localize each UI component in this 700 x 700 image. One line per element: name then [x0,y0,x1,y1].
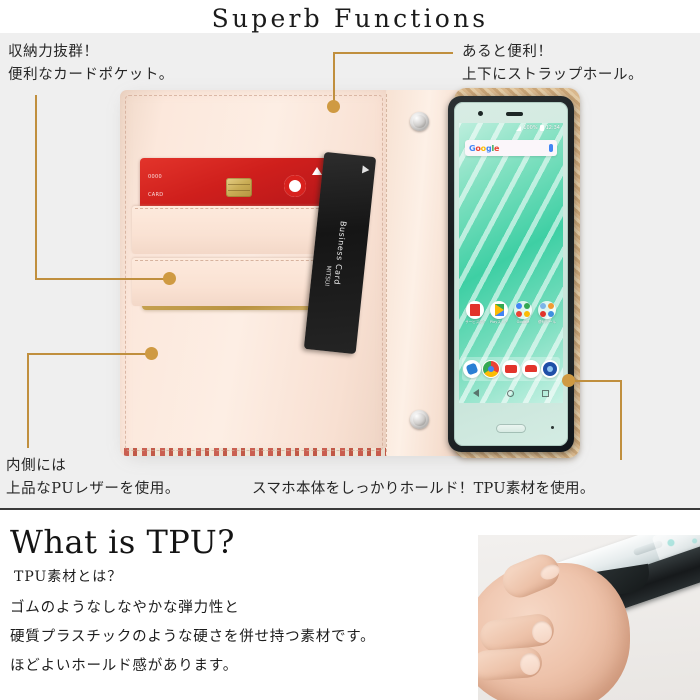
tpu-body-line1: ゴムのようなしなやかな弾力性と [10,594,375,623]
leader-line-tpu-hold-horizontal [570,380,622,382]
tpu-body-line2: 硬質プラスチックのような硬さを併せ持つ素材です。 [10,623,375,652]
hand-holding-phone-photo [478,535,700,700]
earpiece-icon [506,112,523,116]
leader-line-strap-hole-horizontal [333,52,453,54]
red-card-number: 0000 [148,174,162,180]
annotation-tpu-hold-line1: スマホ本体をしっかりホールド！TPU素材を使用。 [252,478,595,501]
leader-dot-pu-leather [145,347,158,360]
leader-line-tpu-hold-vertical [620,380,622,460]
leader-line-pu-leather-horizontal [27,353,152,355]
back-icon[interactable] [473,389,479,397]
google-logo: Google [469,144,499,153]
phone-screen: 100% 12:34 Google [459,123,563,403]
red-card-logo [284,175,306,197]
chrome-app-icon[interactable] [482,360,500,378]
leader-line-pu-leather-vertical [27,353,29,448]
tools-folder-icon [538,301,556,319]
annotation-strap-hole-line2: 上下にストラップホール。 [462,64,643,87]
status-time: 12:34 [546,125,560,131]
app-row: サービス紹介 Playストア [463,301,559,325]
front-camera-icon [478,111,483,116]
status-bar: 100% 12:34 [459,123,563,133]
app-dock [462,357,560,381]
signal-icon [516,126,521,131]
product-infographic: Superb Functions 収納力抜群！ 便利なカードポケット。 あると便… [0,0,700,700]
business-card-label: Business Card [332,221,348,286]
leader-line-card-pocket-vertical [35,95,37,280]
navigation-bar [459,385,563,401]
messages-app-icon[interactable] [502,360,520,378]
leader-dot-tpu-hold [562,374,575,387]
leader-line-card-pocket-horizontal [35,278,170,280]
annotation-card-pocket: 収納力抜群！ 便利なカードポケット。 [8,41,174,87]
tpu-body: ゴムのようなしなやかな弾力性と 硬質プラスチックのような硬さを併せ持つ素材です。… [10,594,375,681]
app-service-label: サービス紹介 [465,320,485,325]
red-card-name: CARD [148,192,163,198]
hand [478,563,630,700]
app-play-store-label: Playストア [489,320,509,325]
service-app-icon [466,301,484,319]
mail-app-icon[interactable] [522,360,540,378]
leader-line-strap-hole-vertical [333,52,335,106]
red-card-arrow-icon [312,167,322,175]
annotation-pu-leather-line2: 上品なPUレザーを使用。 [6,478,180,501]
tpu-subheading: TPU素材とは？ [14,566,122,586]
app-tools-folder-label: 便利ツール [537,320,557,325]
google-search-bar[interactable]: Google [465,140,557,156]
annotation-strap-hole: あると便利！ 上下にストラップホール。 [462,41,643,87]
home-button[interactable] [496,424,526,433]
business-card-brand: MITSUI [323,265,332,286]
google-folder-icon [514,301,532,319]
tpu-heading: What is TPU? [10,523,235,561]
card-pocket-slot-1 [132,206,342,254]
leader-dot-strap-hole [327,100,340,113]
gold-card-issuer: 三井住友 [152,290,173,297]
annotation-tpu-hold: スマホ本体をしっかりホールド！TPU素材を使用。 [252,478,595,501]
gold-card-chip [228,277,254,296]
leader-dot-card-pocket [163,272,176,285]
annotation-card-pocket-line2: 便利なカードポケット。 [8,64,174,87]
app-service[interactable]: サービス紹介 [465,301,485,325]
features-section: Superb Functions 収納力抜群！ 便利なカードポケット。 あると便… [0,0,700,508]
wallet-case-photo: 0000 CARD 三井住友 VISA Business Card [118,88,580,460]
red-credit-card: 0000 CARD [140,158,328,214]
phone-holder: 100% 12:34 Google [386,90,578,456]
sensor-dot-icon [551,426,554,429]
held-phone-side-button [633,540,664,556]
phone-app-icon[interactable] [463,360,481,378]
annotation-pu-leather-line1: 内側には [6,455,180,478]
annotation-strap-hole-line1: あると便利！ [462,41,643,64]
battery-icon [540,125,544,131]
microphone-icon[interactable] [549,144,553,152]
smartphone: 100% 12:34 Google [454,102,568,446]
play-store-icon [490,301,508,319]
gold-credit-card: 三井住友 VISA [142,260,326,310]
page-title: Superb Functions [0,4,700,33]
camera-app-icon[interactable] [541,360,559,378]
app-play-store[interactable]: Playストア [489,301,509,325]
battery-percent: 100% [523,125,537,131]
annotation-pu-leather: 内側には 上品なPUレザーを使用。 [6,455,180,501]
tpu-body-line3: ほどよいホールド感があります。 [10,652,375,681]
red-card-chip [226,178,252,197]
business-card-arrow-icon [362,165,370,174]
recents-icon[interactable] [542,390,549,397]
app-google-folder-label: Google [513,320,533,324]
home-icon[interactable] [507,390,514,397]
app-tools-folder[interactable]: 便利ツール [537,301,557,325]
app-google-folder[interactable]: Google [513,301,533,324]
annotation-card-pocket-line1: 収納力抜群！ [8,41,174,64]
